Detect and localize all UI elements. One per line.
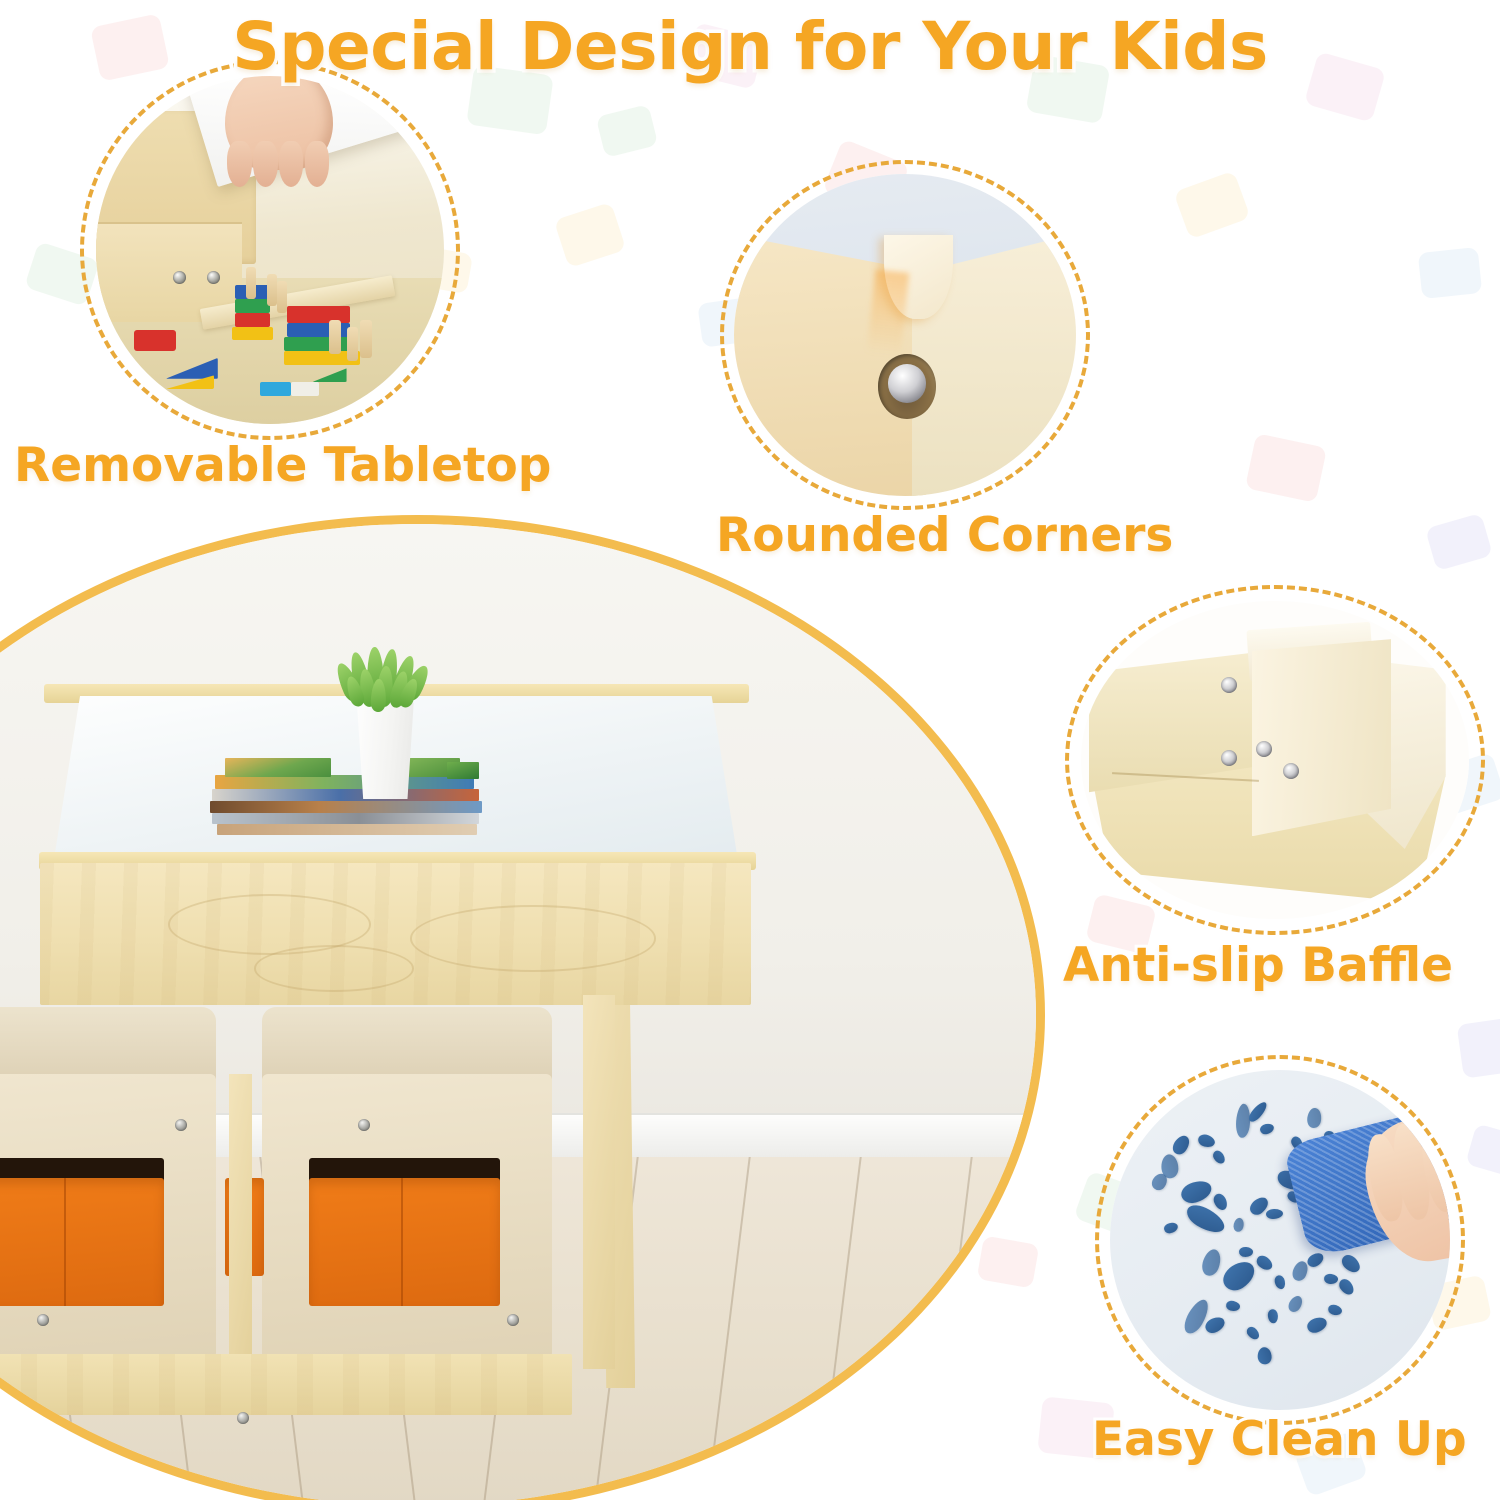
feature-label-easy-clean-up: Easy Clean Up bbox=[1092, 1412, 1467, 1467]
feature-label-anti-slip-baffle: Anti-slip Baffle bbox=[1063, 938, 1453, 993]
dashed-circle-ring bbox=[80, 60, 460, 440]
feature-inset-removable-tabletop bbox=[80, 60, 460, 440]
feature-label-rounded-corners: Rounded Corners bbox=[716, 508, 1173, 563]
dashed-circle-ring bbox=[1065, 585, 1485, 935]
feature-inset-easy-clean-up bbox=[1095, 1055, 1465, 1425]
dashed-circle-ring bbox=[720, 160, 1090, 510]
succulent-plant bbox=[333, 644, 437, 715]
feature-inset-rounded-corners bbox=[720, 160, 1090, 510]
feature-label-removable-tabletop: Removable Tabletop bbox=[14, 438, 551, 493]
page-title: Special Design for Your Kids bbox=[0, 8, 1500, 85]
main-product-photo bbox=[0, 515, 1045, 1500]
infographic-canvas: Special Design for Your Kids bbox=[0, 0, 1500, 1500]
dashed-circle-ring bbox=[1095, 1055, 1465, 1425]
feature-inset-anti-slip-baffle bbox=[1065, 585, 1485, 935]
